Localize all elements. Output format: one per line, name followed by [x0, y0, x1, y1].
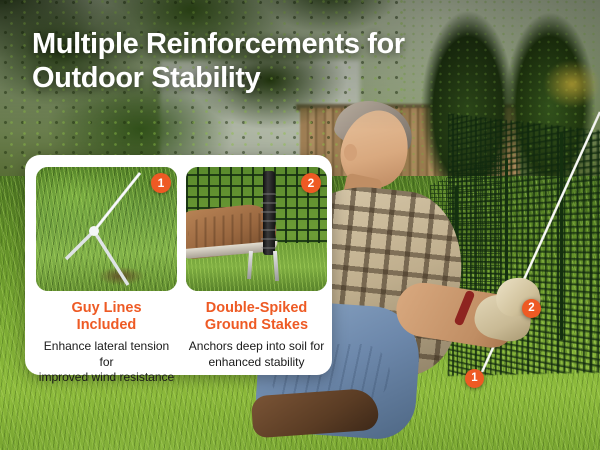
feature-heading-line-1: Double-Spiked — [206, 300, 308, 316]
feature-thumbnail-guy-lines[interactable]: 1 — [36, 167, 177, 291]
feature-description-guy-lines: Enhance lateral tension for improved win… — [36, 339, 177, 385]
feature-item-guy-lines: 1 Guy Lines Included Enhance lateral ten… — [36, 167, 177, 385]
title-line-1: Multiple Reinforcements for — [32, 28, 405, 60]
feature-heading-line-1: Guy Lines — [71, 300, 141, 316]
title-line-2: Outdoor Stability — [32, 61, 502, 95]
feature-desc-line-2: improved wind resistance — [39, 370, 174, 384]
feature-card: 1 Guy Lines Included Enhance lateral ten… — [25, 155, 332, 375]
fence-post — [560, 132, 563, 340]
stake-ribs — [261, 193, 277, 249]
feature-columns: 1 Guy Lines Included Enhance lateral ten… — [36, 167, 321, 385]
ear — [344, 144, 357, 161]
feature-item-ground-stakes: 2 Double-Spiked Ground Stakes Anchors de… — [186, 167, 327, 385]
feature-heading-ground-stakes: Double-Spiked Ground Stakes — [205, 300, 308, 334]
feature-desc-line-1: Anchors deep into soil for — [189, 339, 324, 353]
product-feature-infographic: Multiple Reinforcements for Outdoor Stab… — [0, 0, 600, 450]
feature-description-ground-stakes: Anchors deep into soil for enhanced stab… — [189, 339, 324, 370]
feature-thumbnail-ground-stakes[interactable]: 2 — [186, 167, 327, 291]
person-installing-fence — [300, 92, 530, 412]
page-title: Multiple Reinforcements for Outdoor Stab… — [32, 27, 502, 95]
feature-desc-line-1: Enhance lateral tension for — [44, 339, 169, 368]
feature-heading-guy-lines: Guy Lines Included — [71, 300, 141, 334]
feature-desc-line-2: enhanced stability — [208, 355, 304, 369]
scene-marker-2: 2 — [522, 299, 541, 318]
scene-marker-1: 1 — [465, 369, 484, 388]
autumn-shrub — [540, 50, 600, 120]
feature-heading-line-2: Ground Stakes — [205, 317, 308, 333]
feature-heading-line-2: Included — [77, 317, 137, 333]
feature-badge-2: 2 — [301, 173, 321, 193]
work-boot — [251, 388, 380, 439]
feature-badge-1: 1 — [151, 173, 171, 193]
